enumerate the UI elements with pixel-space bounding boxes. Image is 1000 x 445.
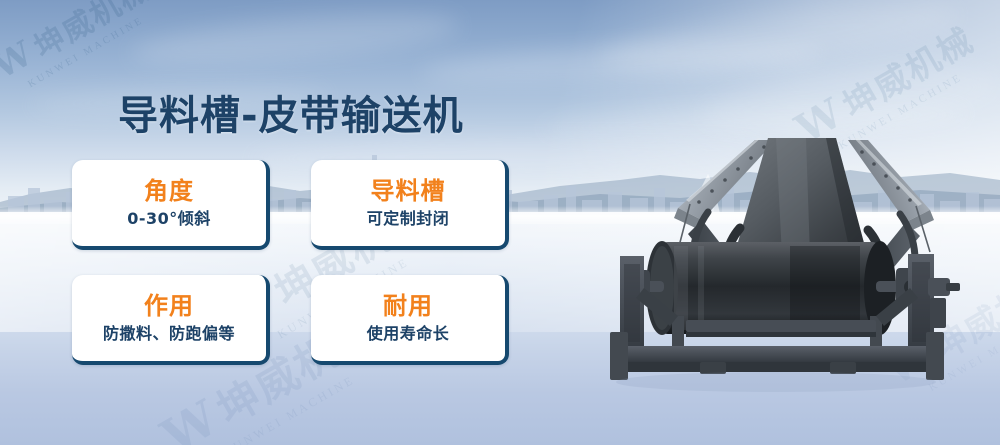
feature-card-subtitle: 0-30°倾斜 <box>127 210 211 228</box>
product-banner: W 坤威机械 KUNWEI MACHINE W 坤威机械 KUNWEI MACH… <box>0 0 1000 445</box>
feature-card-title: 角度 <box>144 178 194 204</box>
feature-card-function[interactable]: 作用 防撒料、防跑偏等 <box>72 275 270 365</box>
feature-card-title: 耐用 <box>383 293 433 319</box>
belt-conveyor-illustration <box>600 138 1000 408</box>
feature-card-title: 作用 <box>144 293 194 319</box>
feature-card-subtitle: 防撒料、防跑偏等 <box>103 325 235 343</box>
feature-card-durability[interactable]: 耐用 使用寿命长 <box>311 275 509 365</box>
cloud-streak <box>129 4 461 75</box>
feature-card-subtitle: 使用寿命长 <box>367 325 450 343</box>
machine-shadow <box>616 372 936 392</box>
feature-card-angle[interactable]: 角度 0-30°倾斜 <box>72 160 270 250</box>
feature-card-guide-chute[interactable]: 导料槽 可定制封闭 <box>311 160 509 250</box>
material-guide-chute-right <box>848 138 934 232</box>
belt-tension-adjuster <box>928 278 960 328</box>
feature-card-title: 导料槽 <box>371 178 446 204</box>
feature-card-subtitle: 可定制封闭 <box>367 210 450 228</box>
page-title: 导料槽-皮带输送机 <box>118 83 464 141</box>
